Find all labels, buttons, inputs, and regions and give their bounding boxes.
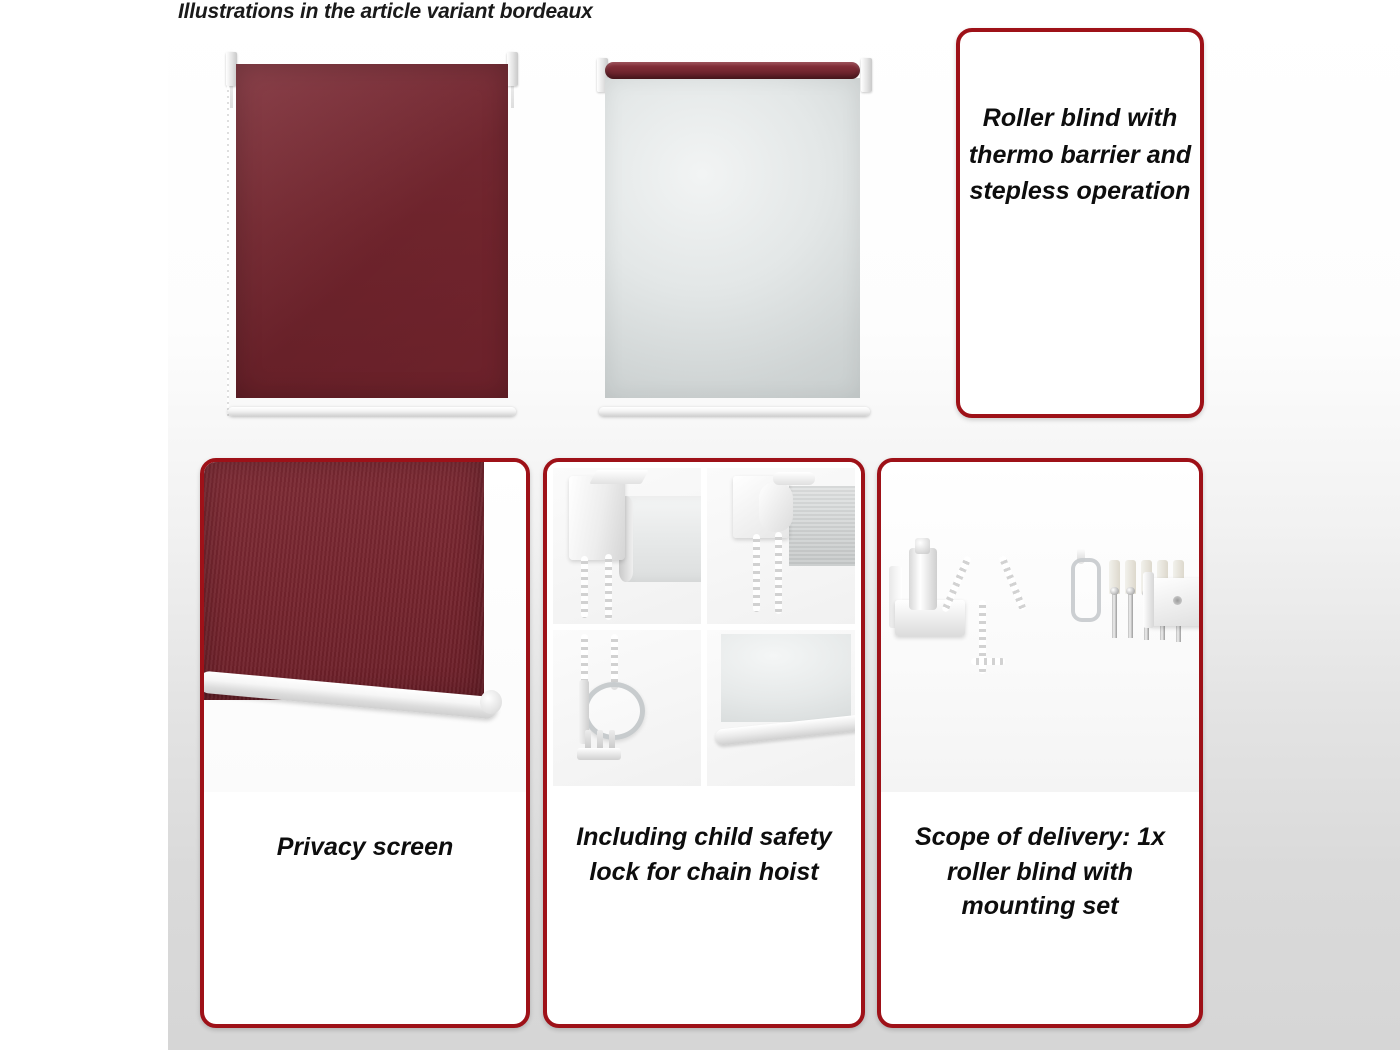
blind-roll-icon — [625, 496, 701, 582]
blind-fabric-thermo — [721, 634, 851, 722]
clamp-bracket-icon — [569, 476, 625, 560]
roller-mechanism-icon — [909, 548, 937, 610]
scope-of-delivery-photo — [881, 462, 1199, 792]
bracket-knob-icon — [759, 482, 793, 532]
roller-tube-bordeaux — [605, 62, 860, 79]
page-title: Illustrations in the article variant bor… — [178, 0, 593, 24]
photo-safety-lock — [553, 630, 701, 786]
bracket-tab-icon — [773, 472, 815, 485]
photo-clamp-bracket — [553, 468, 701, 624]
blind-fabric-bordeaux — [236, 64, 508, 398]
bead-chain-icon — [581, 556, 588, 618]
clamp-lip-icon — [589, 470, 648, 484]
hero-blind-reverse — [593, 48, 876, 424]
bead-chain-icon — [227, 86, 229, 416]
bead-chain-icon — [775, 532, 782, 614]
privacy-screen-card: Privacy screen — [200, 458, 530, 1028]
scope-of-delivery-card: Scope of delivery: 1x roller blind with … — [877, 458, 1203, 1028]
bottom-rail-end-cap — [479, 689, 503, 715]
hero-blind-front — [222, 42, 522, 424]
mounting-plate-hole-icon — [1173, 596, 1182, 605]
privacy-screen-caption: Privacy screen — [212, 830, 518, 865]
claim-card-text: Roller blind with thermo barrier and ste… — [968, 100, 1192, 210]
photo-wall-bracket — [707, 468, 855, 624]
child-safety-caption: Including child safety lock for chain ho… — [555, 820, 853, 889]
safety-clip-icon — [1071, 558, 1101, 622]
mounting-plate-wing-icon — [1143, 572, 1154, 628]
blind-roll-icon — [789, 486, 855, 566]
claim-card: Roller blind with thermo barrier and ste… — [956, 28, 1204, 418]
child-safety-photo-grid — [547, 462, 861, 792]
privacy-screen-photo — [204, 462, 526, 792]
mounting-bracket-right-icon — [861, 58, 872, 92]
roller-mechanism-cap-icon — [915, 538, 930, 554]
infographic-root: Illustrations in the article variant bor… — [0, 0, 1400, 1050]
bead-chain-icon — [753, 534, 760, 612]
screw-icon — [1128, 592, 1133, 638]
photo-blind-bottom-rail — [707, 630, 855, 786]
bottom-rail — [599, 407, 870, 416]
blind-fabric-closeup — [204, 462, 484, 700]
bead-chain-loop-icon — [953, 554, 1031, 674]
blind-fabric-thermo — [605, 78, 860, 398]
scope-of-delivery-caption: Scope of delivery: 1x roller blind with … — [889, 820, 1191, 924]
mounting-bracket-right-icon — [507, 52, 518, 86]
safety-lock-foot-icon — [577, 748, 621, 760]
child-safety-card: Including child safety lock for chain ho… — [543, 458, 865, 1028]
bottom-rail — [228, 407, 516, 416]
bead-chain-icon — [605, 554, 612, 620]
screw-icon — [1112, 592, 1117, 638]
mounting-plate-icon — [1149, 578, 1199, 626]
